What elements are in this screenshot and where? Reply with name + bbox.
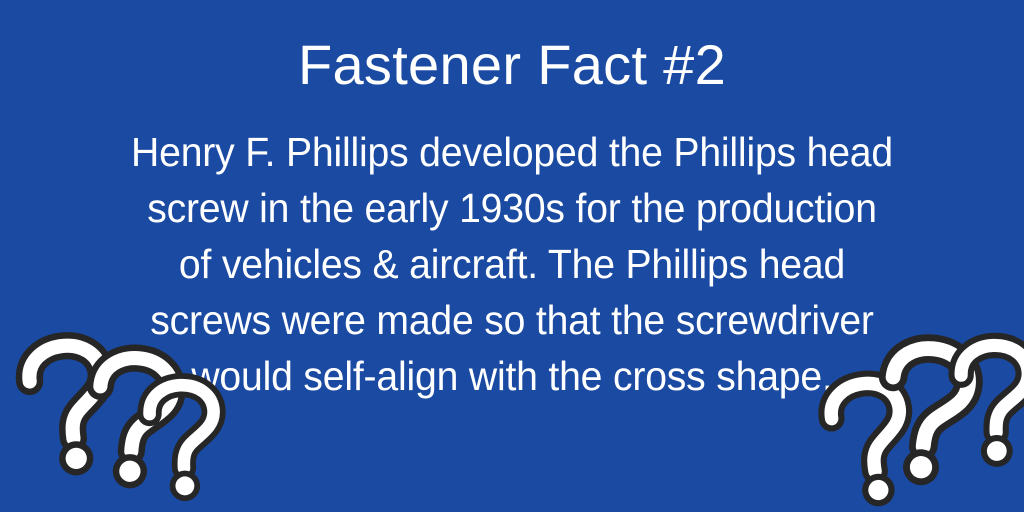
- body-line: would self-align with the cross shape.: [92, 348, 932, 404]
- body-line: Henry F. Phillips developed the Phillips…: [92, 124, 932, 180]
- body-line: screws were made so that the screwdriver: [92, 292, 932, 348]
- body-line: of vehicles & aircraft. The Phillips hea…: [92, 236, 932, 292]
- fact-body-text: Henry F. Phillips developed the Phillips…: [72, 124, 952, 404]
- page-title: Fastener Fact #2: [0, 30, 1024, 100]
- fastener-fact-card: Fastener Fact #2 Henry F. Phillips devel…: [0, 0, 1024, 512]
- body-line: screw in the early 1930s for the product…: [92, 180, 932, 236]
